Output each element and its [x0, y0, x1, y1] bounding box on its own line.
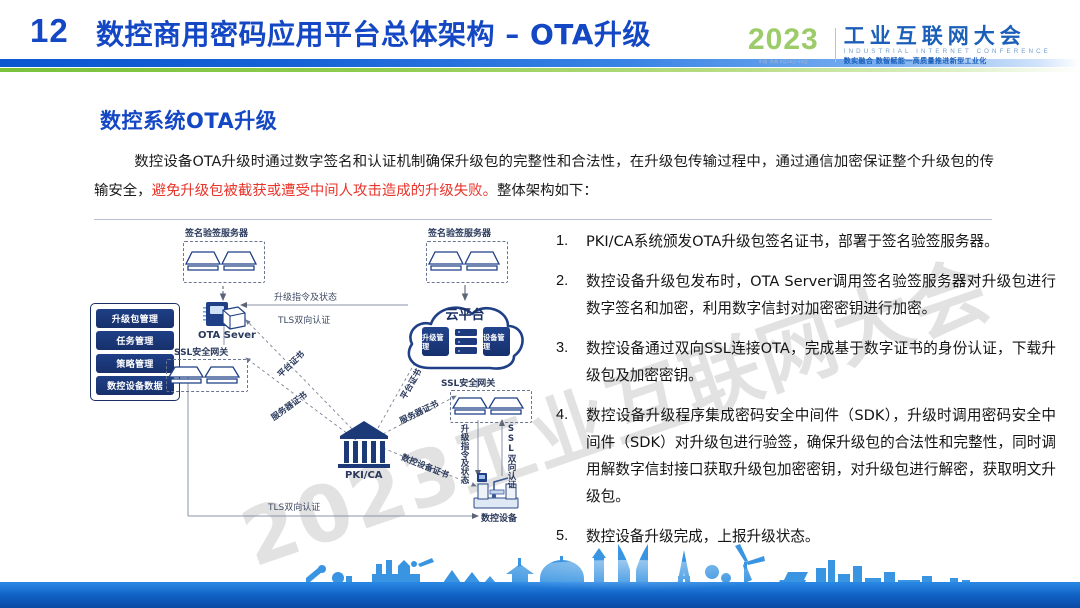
step-number: 3.	[556, 335, 586, 389]
logo-divider	[835, 28, 836, 62]
footer-skyline	[0, 536, 1080, 608]
page-title: 数控商用密码应用平台总体架构 – OTA升级	[96, 13, 651, 53]
cloud-title: 云平台	[402, 304, 528, 323]
label-upgrade-cmd-right: 升级指令及状态	[459, 424, 469, 484]
step-text: 数控设备升级包发布时，OTA Server调用签名验签服务器对升级包进行数字签名…	[586, 268, 1056, 322]
content-divider	[94, 219, 992, 220]
logo-name-cn: 工业互联网大会	[844, 25, 1051, 47]
logo-name-en: INDUSTRIAL INTERNET CONFERENCE	[844, 49, 1051, 56]
cloud-chip-device-label: 设备管理	[483, 333, 510, 351]
step-item: 2. 数控设备升级包发布时，OTA Server调用签名验签服务器对升级包进行数…	[556, 268, 1056, 322]
label-sign-server-left: 签名验签服务器	[185, 226, 248, 239]
cloud-chip-upgrade-label: 升级管理	[422, 333, 449, 351]
architecture-diagram: 升级包管理 任务管理 策略管理 数控设备数据	[78, 228, 548, 538]
intro-text-part2: 整体架构如下：	[497, 183, 598, 199]
step-item: 4. 数控设备升级程序集成密码安全中间件（SDK），升级时调用密码安全中间件（S…	[556, 402, 1056, 510]
step-number: 2.	[556, 268, 586, 322]
page-number: 12	[30, 12, 69, 50]
server-pair-right	[427, 242, 507, 282]
skyline-graphic	[0, 536, 1080, 608]
step-item: 1. PKI/CA系统颁发OTA升级包签名证书，部署于签名验签服务器。	[556, 228, 1056, 255]
slide-root: 12 数控商用密码应用平台总体架构 – OTA升级 2023 中国·济南 8月1…	[0, 0, 1080, 608]
cloud-platform: 云平台 升级管理 设备管理	[402, 288, 528, 378]
group-ssl-gateway-left	[166, 359, 248, 392]
rack-row	[455, 347, 477, 354]
step-number: 4.	[556, 402, 586, 510]
label-ssl-mutual-right: SSL双向认证	[506, 424, 516, 488]
label-cnc-device: 数控设备	[481, 511, 517, 524]
step-text: 数控设备升级程序集成密码安全中间件（SDK），升级时调用密码安全中间件（SDK）…	[586, 402, 1056, 510]
group-sign-server-right	[426, 241, 508, 283]
step-text: PKI/CA系统颁发OTA升级包签名证书，部署于签名验签服务器。	[586, 228, 1056, 255]
steps-list: 1. PKI/CA系统颁发OTA升级包签名证书，部署于签名验签服务器。 2. 数…	[556, 228, 1056, 563]
step-number: 1.	[556, 228, 586, 255]
cloud-chip-device: 设备管理	[483, 327, 510, 356]
group-sign-server-left	[183, 241, 265, 283]
step-text: 数控设备通过双向SSL连接OTA，完成基于数字证书的身份认证，下载升级包及加密密…	[586, 335, 1056, 389]
logo-date: 中国·济南 8月18日-19日	[748, 59, 819, 65]
step-item: 3. 数控设备通过双向SSL连接OTA，完成基于数字证书的身份认证，下载升级包及…	[556, 335, 1056, 389]
label-pki-ca: PKI/CA	[345, 470, 383, 481]
label-ota-server: OTA Sever	[198, 330, 256, 341]
label-ssl-gateway-right: SSL安全网关	[441, 376, 495, 389]
cloud-chip-upgrade: 升级管理	[422, 327, 449, 356]
label-upgrade-cmd-top: 升级指令及状态	[274, 290, 337, 303]
conference-logo: 2023 中国·济南 8月18日-19日 工业互联网大会 INDUSTRIAL …	[748, 20, 1066, 70]
pki-ca-icon	[338, 421, 390, 468]
section-heading: 数控系统OTA升级	[100, 105, 277, 135]
server-pair-ssl-right	[451, 391, 531, 422]
label-tls-bottom: TLS双向认证	[268, 500, 320, 513]
logo-tagline: 数实融合 数智赋能—高质量推进新型工业化	[844, 58, 1051, 65]
rack-row	[455, 329, 477, 336]
cloud-inner: 升级管理 设备管理	[422, 326, 510, 357]
logo-name-block: 工业互联网大会 INDUSTRIAL INTERNET CONFERENCE 数…	[844, 25, 1051, 66]
logo-year-block: 2023 中国·济南 8月18日-19日	[748, 25, 827, 65]
intro-paragraph: 数控设备OTA升级时通过数字签名和认证机制确保升级包的完整性和合法性，在升级包传…	[94, 148, 994, 206]
server-pair-ssl-left	[167, 360, 247, 391]
label-ssl-gateway-left: SSL安全网关	[174, 345, 228, 358]
rack-row	[455, 338, 477, 345]
logo-year: 2023	[748, 25, 819, 55]
ota-server-icon	[203, 302, 245, 329]
cloud-rack-icon	[455, 329, 477, 354]
group-ssl-gateway-right	[450, 390, 532, 423]
label-tls-top: TLS双向认证	[278, 313, 330, 326]
server-pair-left	[184, 242, 264, 282]
intro-highlight: 避免升级包被截获或遭受中间人攻击造成的升级失败。	[152, 183, 497, 199]
label-sign-server-right: 签名验签服务器	[428, 226, 491, 239]
